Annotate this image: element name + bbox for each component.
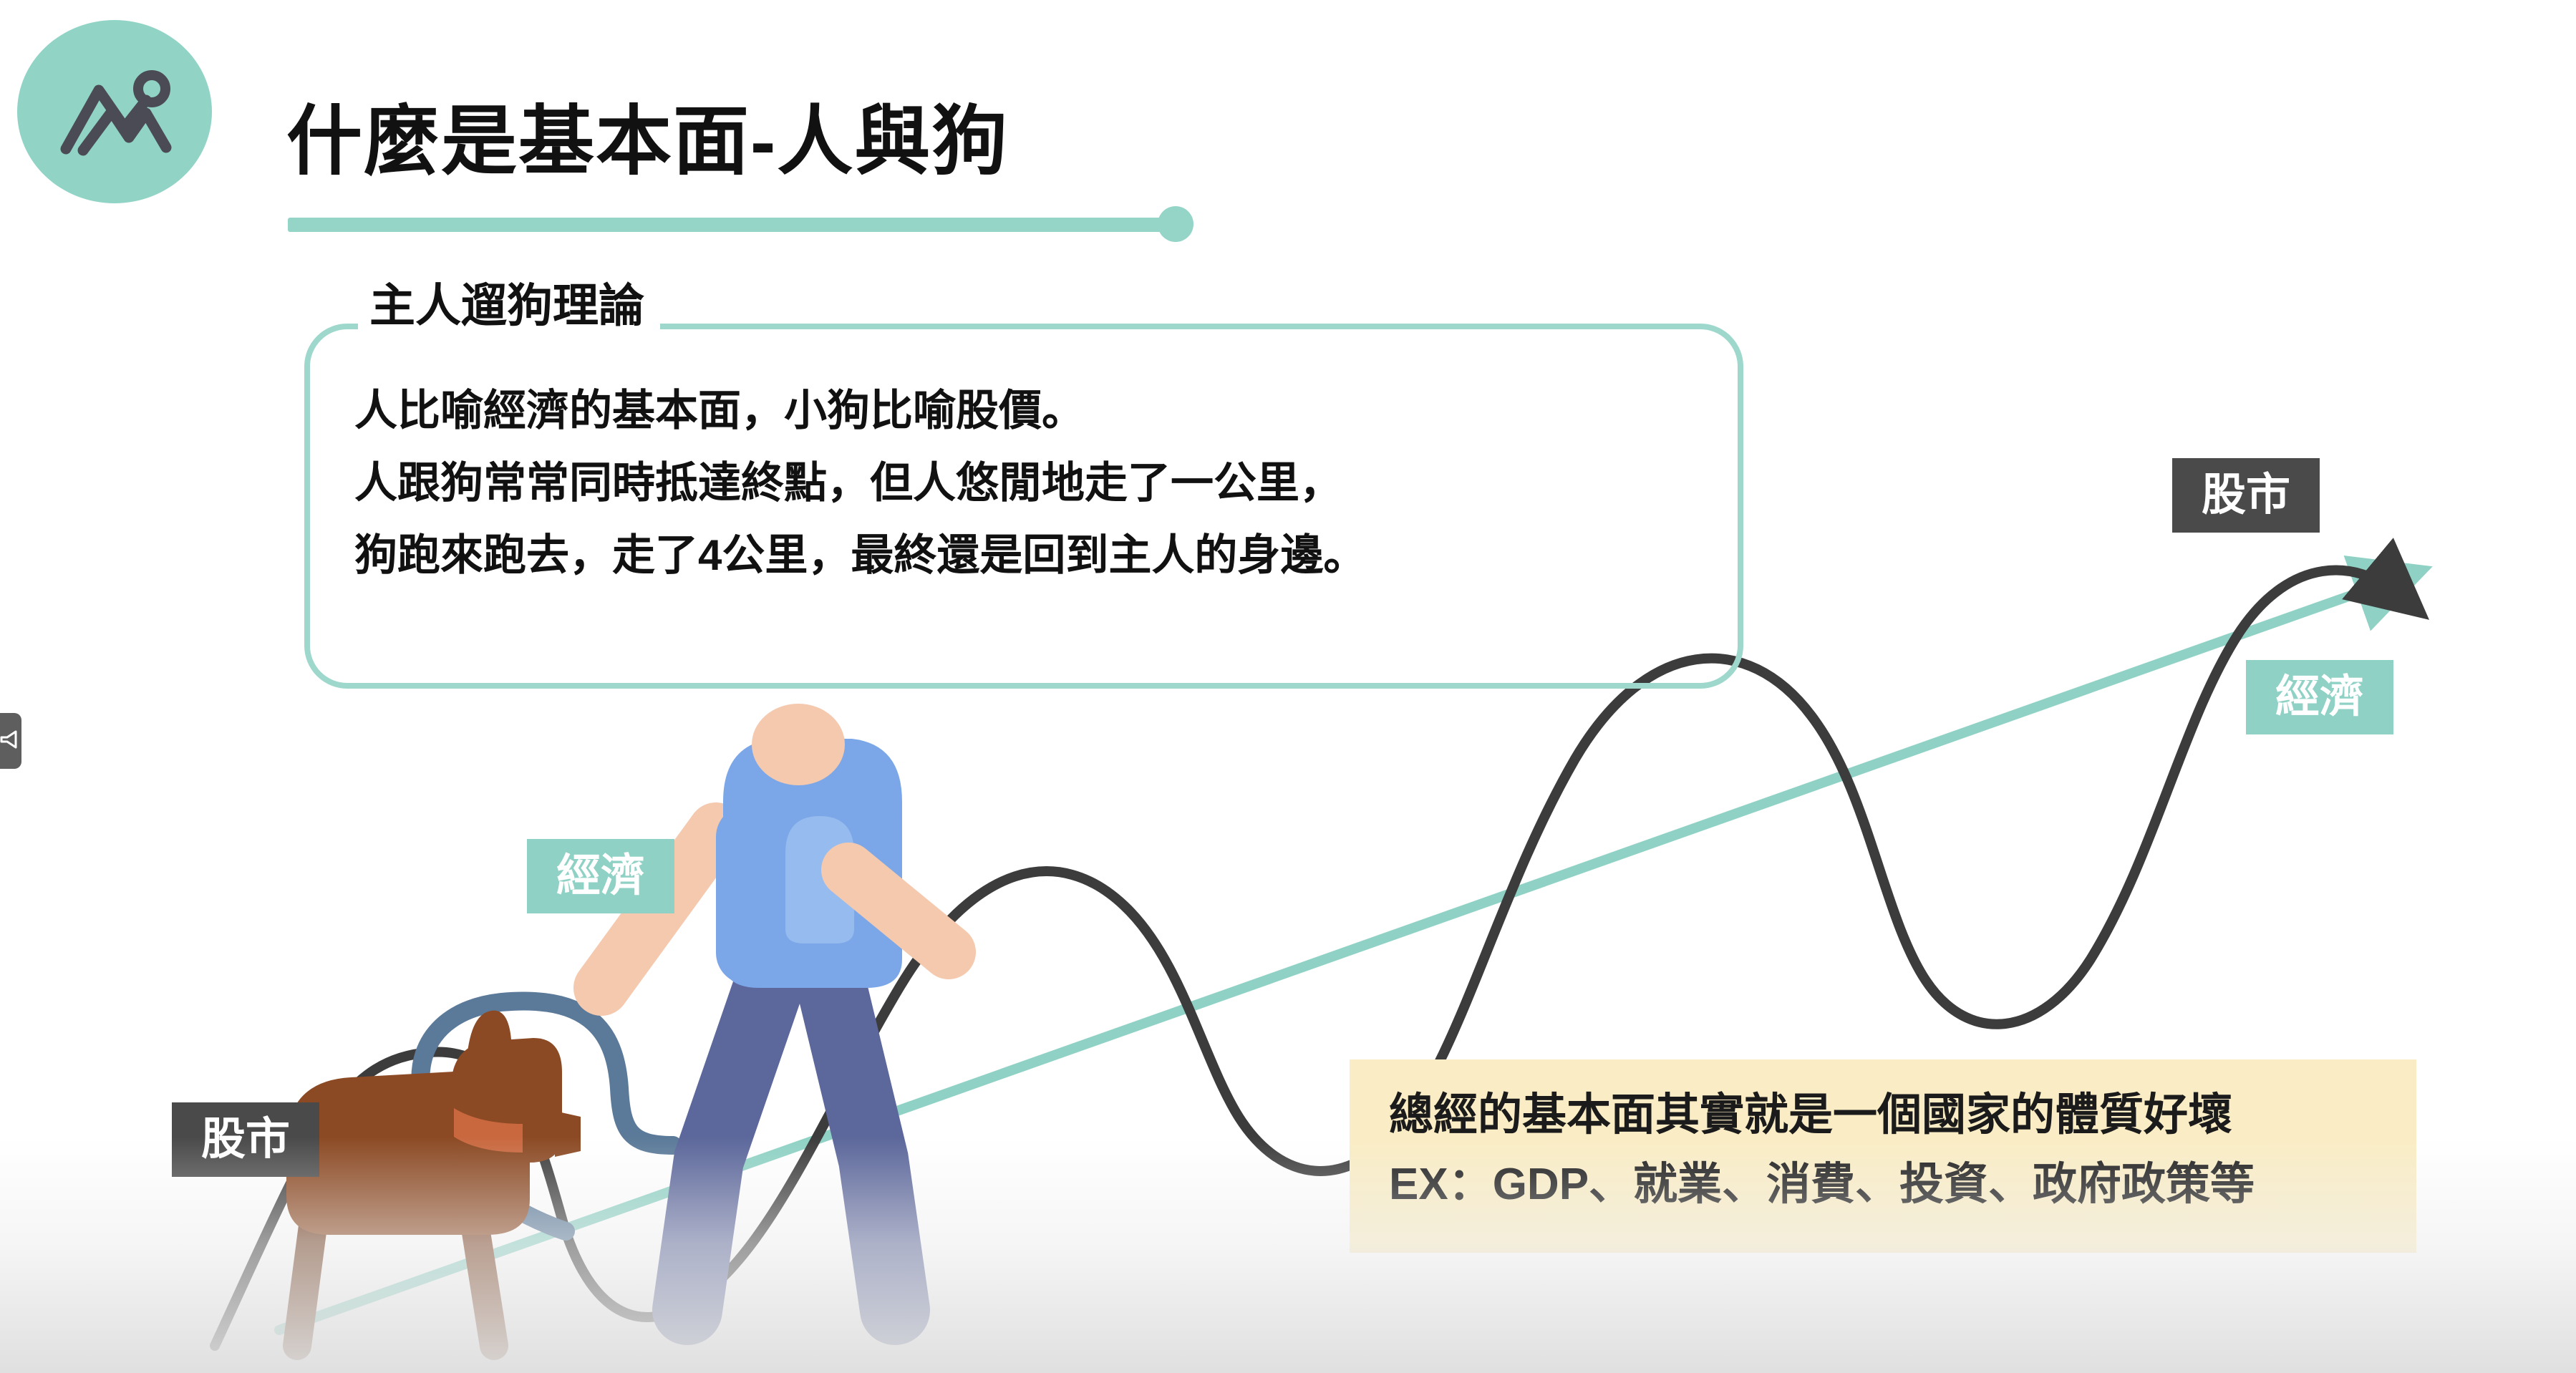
dog-collar [454, 1108, 523, 1153]
mountain-line-chart-icon [54, 62, 175, 162]
label-stock-market-top: 股市 [2172, 458, 2320, 533]
title-underline [288, 218, 1186, 232]
volume-button[interactable] [0, 713, 21, 769]
dog-back-leg [297, 1210, 315, 1346]
dog-ear [467, 1011, 514, 1062]
dog-body [286, 1070, 530, 1235]
dog-illustration [286, 1011, 581, 1346]
person-shirt [723, 739, 902, 988]
slide-canvas: 什麼是基本面-人與狗 主人遛狗理論 人比喻經濟的基本面，小狗比喻股價。 人跟狗常… [0, 0, 2576, 1373]
person-right-arm [848, 870, 949, 952]
theory-line-1: 人比喻經濟的基本面，小狗比喻股價。 [354, 379, 1715, 443]
summary-note-line-1: 總經的基本面其實就是一個國家的體質好壞 [1389, 1090, 2416, 1140]
title-underline-dot [1158, 206, 1193, 242]
label-economy-right: 經濟 [2246, 660, 2393, 734]
theory-line-3: 狗跑來跑去，走了4公里，最終還是回到主人的身邊。 [354, 524, 1715, 588]
summary-note-line-2: EX：GDP、就業、消費、投資、政府政策等 [1389, 1159, 2416, 1210]
person-left-leg [687, 952, 780, 1310]
theory-callout-legend: 主人遛狗理論 [358, 282, 660, 330]
label-economy-left: 經濟 [527, 839, 674, 913]
speaker-icon [0, 729, 19, 754]
brand-logo [17, 20, 212, 203]
person-sleeve-highlight [785, 816, 854, 943]
person-right-leg [823, 952, 895, 1310]
dog-front-leg [473, 1210, 494, 1346]
summary-note-box: 總經的基本面其實就是一個國家的體質好壞 EX：GDP、就業、消費、投資、政府政策… [1350, 1059, 2416, 1253]
label-stock-market-left: 股市 [172, 1102, 319, 1177]
person-head [752, 704, 845, 785]
dog-leash [420, 1001, 673, 1231]
theory-line-2: 人跟狗常常同時抵達終點，但人悠閒地走了一公里， [354, 452, 1715, 515]
page-title: 什麼是基本面-人與狗 [286, 100, 1009, 184]
dog-snout [555, 1111, 581, 1157]
man-walking-illustration [601, 704, 949, 1310]
theory-callout-body: 人比喻經濟的基本面，小狗比喻股價。 人跟狗常常同時抵達終點，但人悠閒地走了一公里… [354, 379, 1715, 596]
dog-head [451, 1038, 562, 1163]
